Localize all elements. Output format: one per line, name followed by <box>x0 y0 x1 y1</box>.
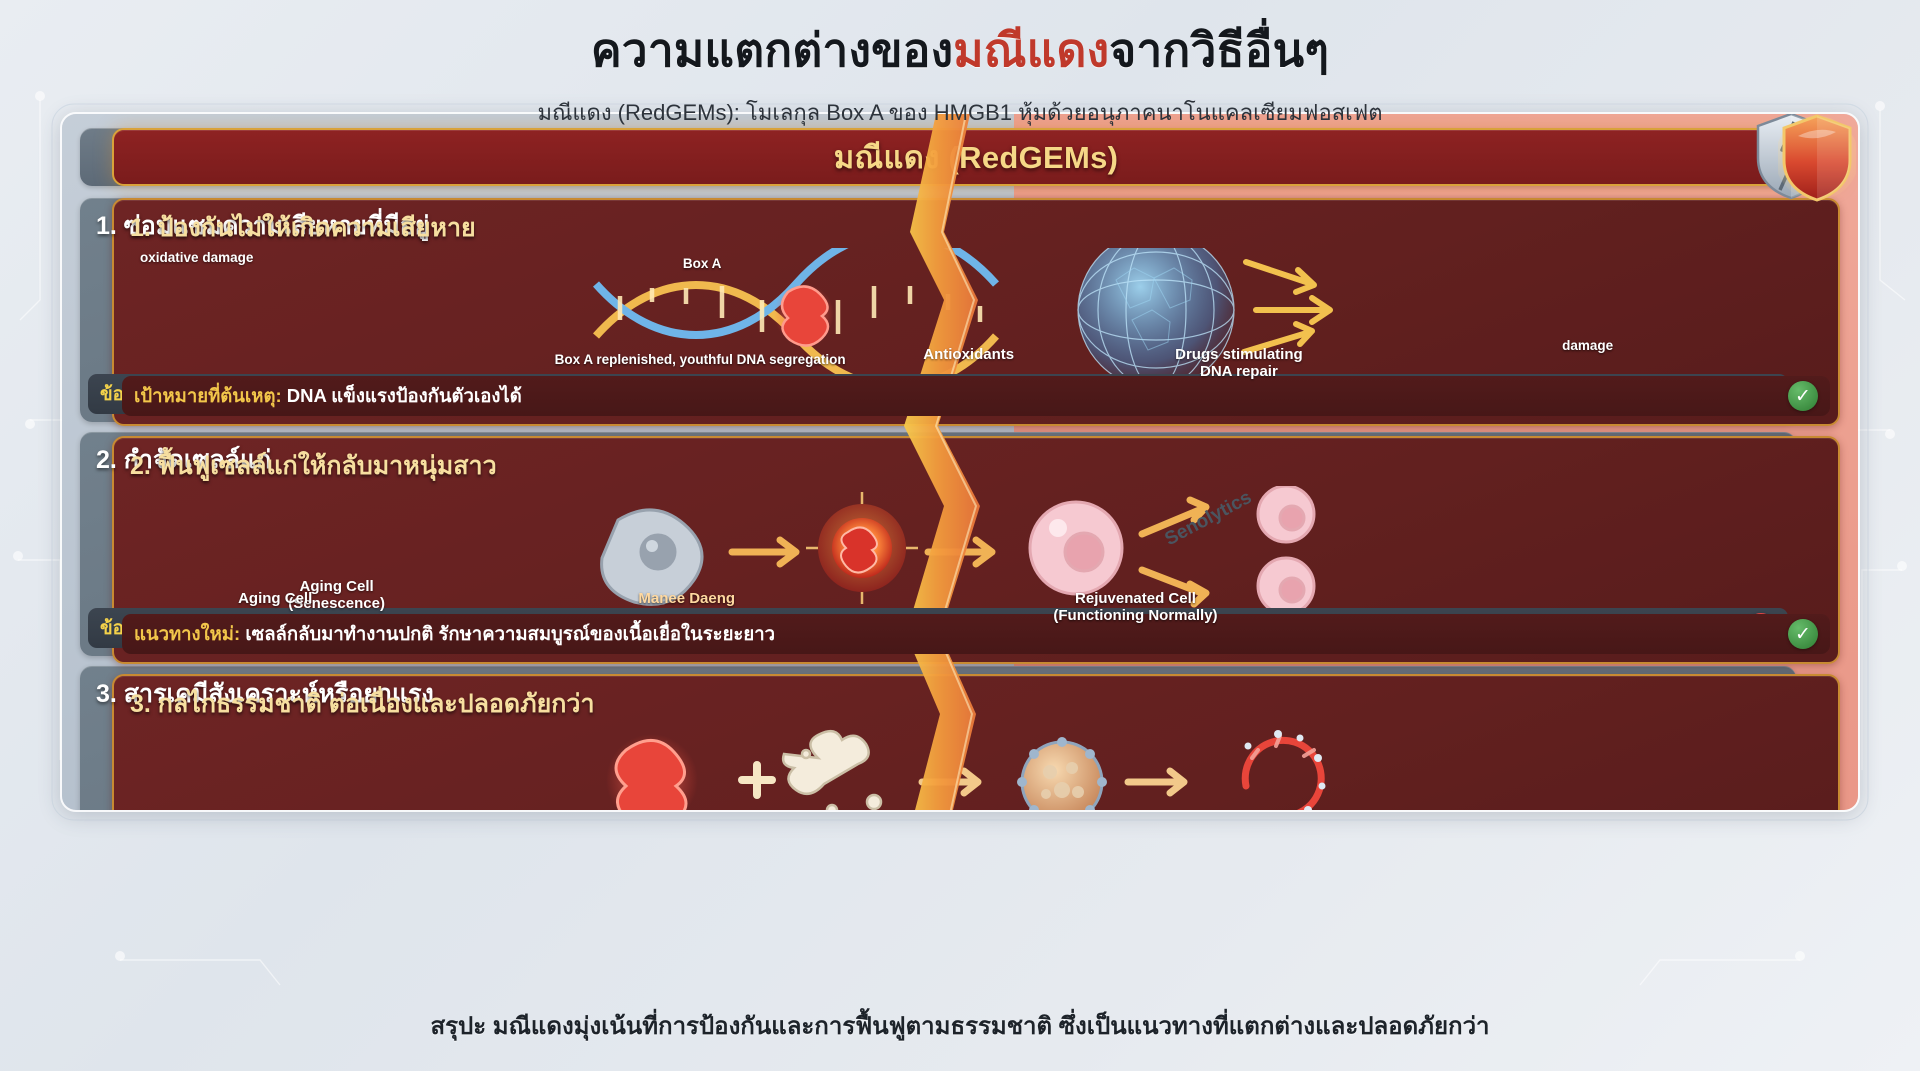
summary-text: สรุปะ มณีแดงมุ่งเน้นที่การป้องกันและการฟ… <box>0 1006 1920 1045</box>
page-header: ความแตกต่างของมณีแดงจากวิธีอื่นๆ มณีแดง … <box>0 14 1920 130</box>
rejuvenated-cell-label: Rejuvenated Cell (Functioning Normally) <box>1010 590 1260 625</box>
right-card-1-title: 1. ป้องกันไม่ให้เกิดความเสียหาย <box>114 200 1838 248</box>
title-highlight: มณีแดง <box>953 24 1109 76</box>
right-card-1-footer: เป้าหมายที่ต้นเหตุ: DNA แข็งแรงป้องกันตั… <box>122 376 1830 416</box>
benefit-lead-2: แนวทางใหม่: <box>134 623 240 644</box>
synthetic-label: Synthetic <box>526 810 676 812</box>
right-card-2-title: 2. ฟื้นฟูเซลล์แก่ให้กลับมาหนุ่มสาว <box>114 438 1838 486</box>
check-icon: ✓ <box>1788 381 1818 411</box>
manee-daeng-label: Manee Daeng <box>597 590 777 607</box>
boxa-caption-label: Box A replenished, youthful DNA segregat… <box>217 352 1182 368</box>
title-post: จากวิธีอื่นๆ <box>1109 24 1329 76</box>
right-card-2-footer-text: แนวทางใหม่: เซลล์กลับมาทำงานปกติ รักษาคว… <box>134 622 1778 645</box>
glowing-shield-icon <box>1778 112 1856 204</box>
right-card-2-footer: แนวทางใหม่: เซลล์กลับมาทำงานปกติ รักษาคว… <box>122 614 1830 654</box>
benefit-text-2: เซลล์กลับมาทำงานปกติ รักษาความสมบูรณ์ของ… <box>245 623 775 644</box>
page-subtitle: มณีแดง (RedGEMs): โมเลกุล Box A ของ HMGB… <box>0 95 1920 130</box>
right-card-1-footer-text: เป้าหมายที่ต้นเหตุ: DNA แข็งแรงป้องกันตั… <box>134 384 1778 407</box>
oxidative-damage-label: oxidative damage <box>140 250 253 266</box>
comparison-frame: วิธีอื่นๆ (Other Methods) 1. ซ่อมแซมคว <box>60 112 1860 812</box>
right-card-3-title: 3. กลไกธรรมชาติ ต่อเนื่องและปลอดภัยกว่า <box>114 676 1838 724</box>
benefit-lead-1: เป้าหมายที่ต้นเหตุ: <box>134 385 282 406</box>
damage-label: damage <box>1562 338 1613 354</box>
box-a-label: Box A <box>683 256 722 272</box>
title-pre: ความแตกต่างของ <box>591 24 953 76</box>
benefit-text-1: DNA แข็งแรงป้องกันตัวเองได้ <box>287 385 522 406</box>
redgems-panel: มณีแดง (RedGEMs) <box>112 128 1840 796</box>
aging-cell-label-right: Aging Cell <box>200 590 350 607</box>
page-title: ความแตกต่างของมณีแดงจากวิธีอื่นๆ <box>0 14 1920 87</box>
check-icon: ✓ <box>1788 619 1818 649</box>
